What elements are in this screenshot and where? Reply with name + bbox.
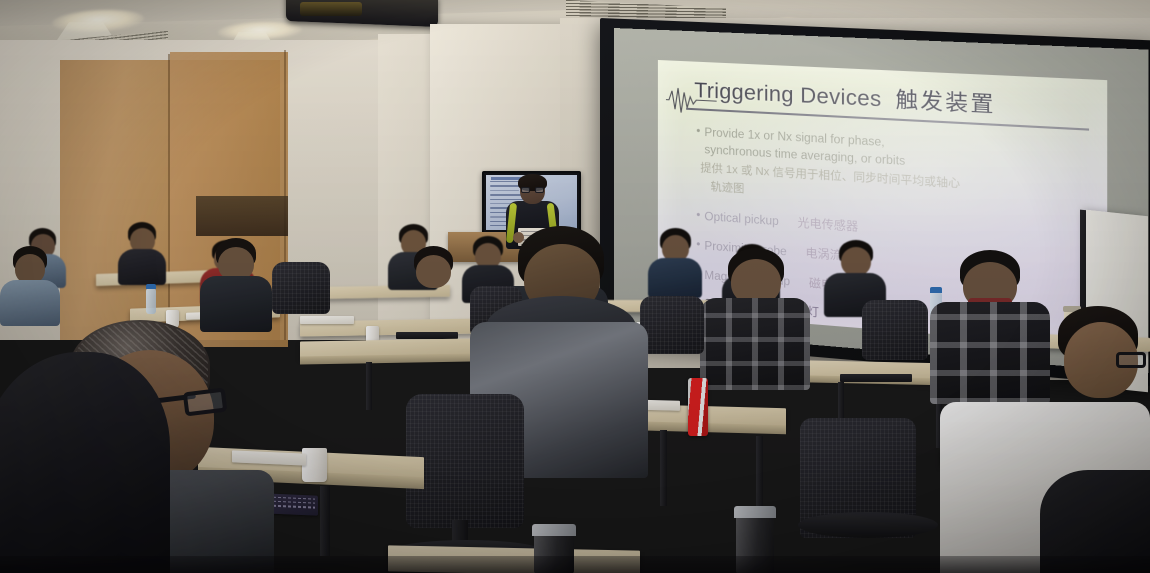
attendee-head xyxy=(841,247,871,276)
slide-title-en: Triggering Devices xyxy=(694,79,881,112)
handout-papers-mid-center xyxy=(300,316,354,324)
foreground-shoulder-left xyxy=(0,352,170,573)
attendee-torso xyxy=(118,249,166,285)
desk-front-center-edge xyxy=(300,353,472,364)
attendee-glasses-right xyxy=(1116,352,1146,368)
office-chair-mid-3[interactable] xyxy=(640,296,704,354)
desk-leg-front-center xyxy=(366,362,372,410)
office-chair-mid-4[interactable] xyxy=(862,300,928,360)
desk-leg-fg-left xyxy=(320,486,330,556)
attendee-back-6 xyxy=(648,228,702,294)
slide-title-cn: 触发装置 xyxy=(895,88,995,117)
item-1-cn: 光电传感器 xyxy=(798,218,859,234)
glasses-lens xyxy=(183,388,228,417)
projector-lens xyxy=(300,2,362,16)
notebook-right xyxy=(840,374,912,382)
photo-scene: Triggering Devices触发装置 •Provide 1x or Nx… xyxy=(0,0,1150,573)
bottom-shadow xyxy=(0,556,1150,573)
wood-panel-seam-1 xyxy=(168,54,170,346)
soda-can xyxy=(688,378,708,436)
attendee-torso xyxy=(648,258,702,298)
bottle-cap-mid-left xyxy=(146,284,156,289)
desk-leg-fr-2 xyxy=(756,436,763,514)
attendee-mid-2 xyxy=(200,238,272,330)
desk-leg-fr-1 xyxy=(660,430,667,506)
attendee-mid-1 xyxy=(0,246,60,324)
bullet-dot-icon: • xyxy=(696,208,700,225)
attendee-mid-5-plaid xyxy=(700,248,810,388)
water-bottle-mid-left xyxy=(146,288,156,314)
attendee-mid-3 xyxy=(398,246,468,338)
chair-base-front-right xyxy=(798,512,938,538)
slide-title: Triggering Devices触发装置 xyxy=(694,74,1096,125)
thermos-cap-center xyxy=(532,524,576,536)
attendee-torso-plaid xyxy=(700,298,810,390)
item-1-en: Optical pickup xyxy=(704,211,778,228)
presenter-glasses xyxy=(521,187,544,193)
office-chair-mid-1[interactable] xyxy=(272,262,330,314)
bullet-4-text: 轨迹图 xyxy=(711,181,745,195)
thermos-cap-right xyxy=(734,506,776,518)
attendee-torso xyxy=(398,283,468,339)
attendee-back-2 xyxy=(118,222,166,282)
bullet-dot-icon: • xyxy=(696,123,700,140)
doorway-dark xyxy=(196,196,288,236)
